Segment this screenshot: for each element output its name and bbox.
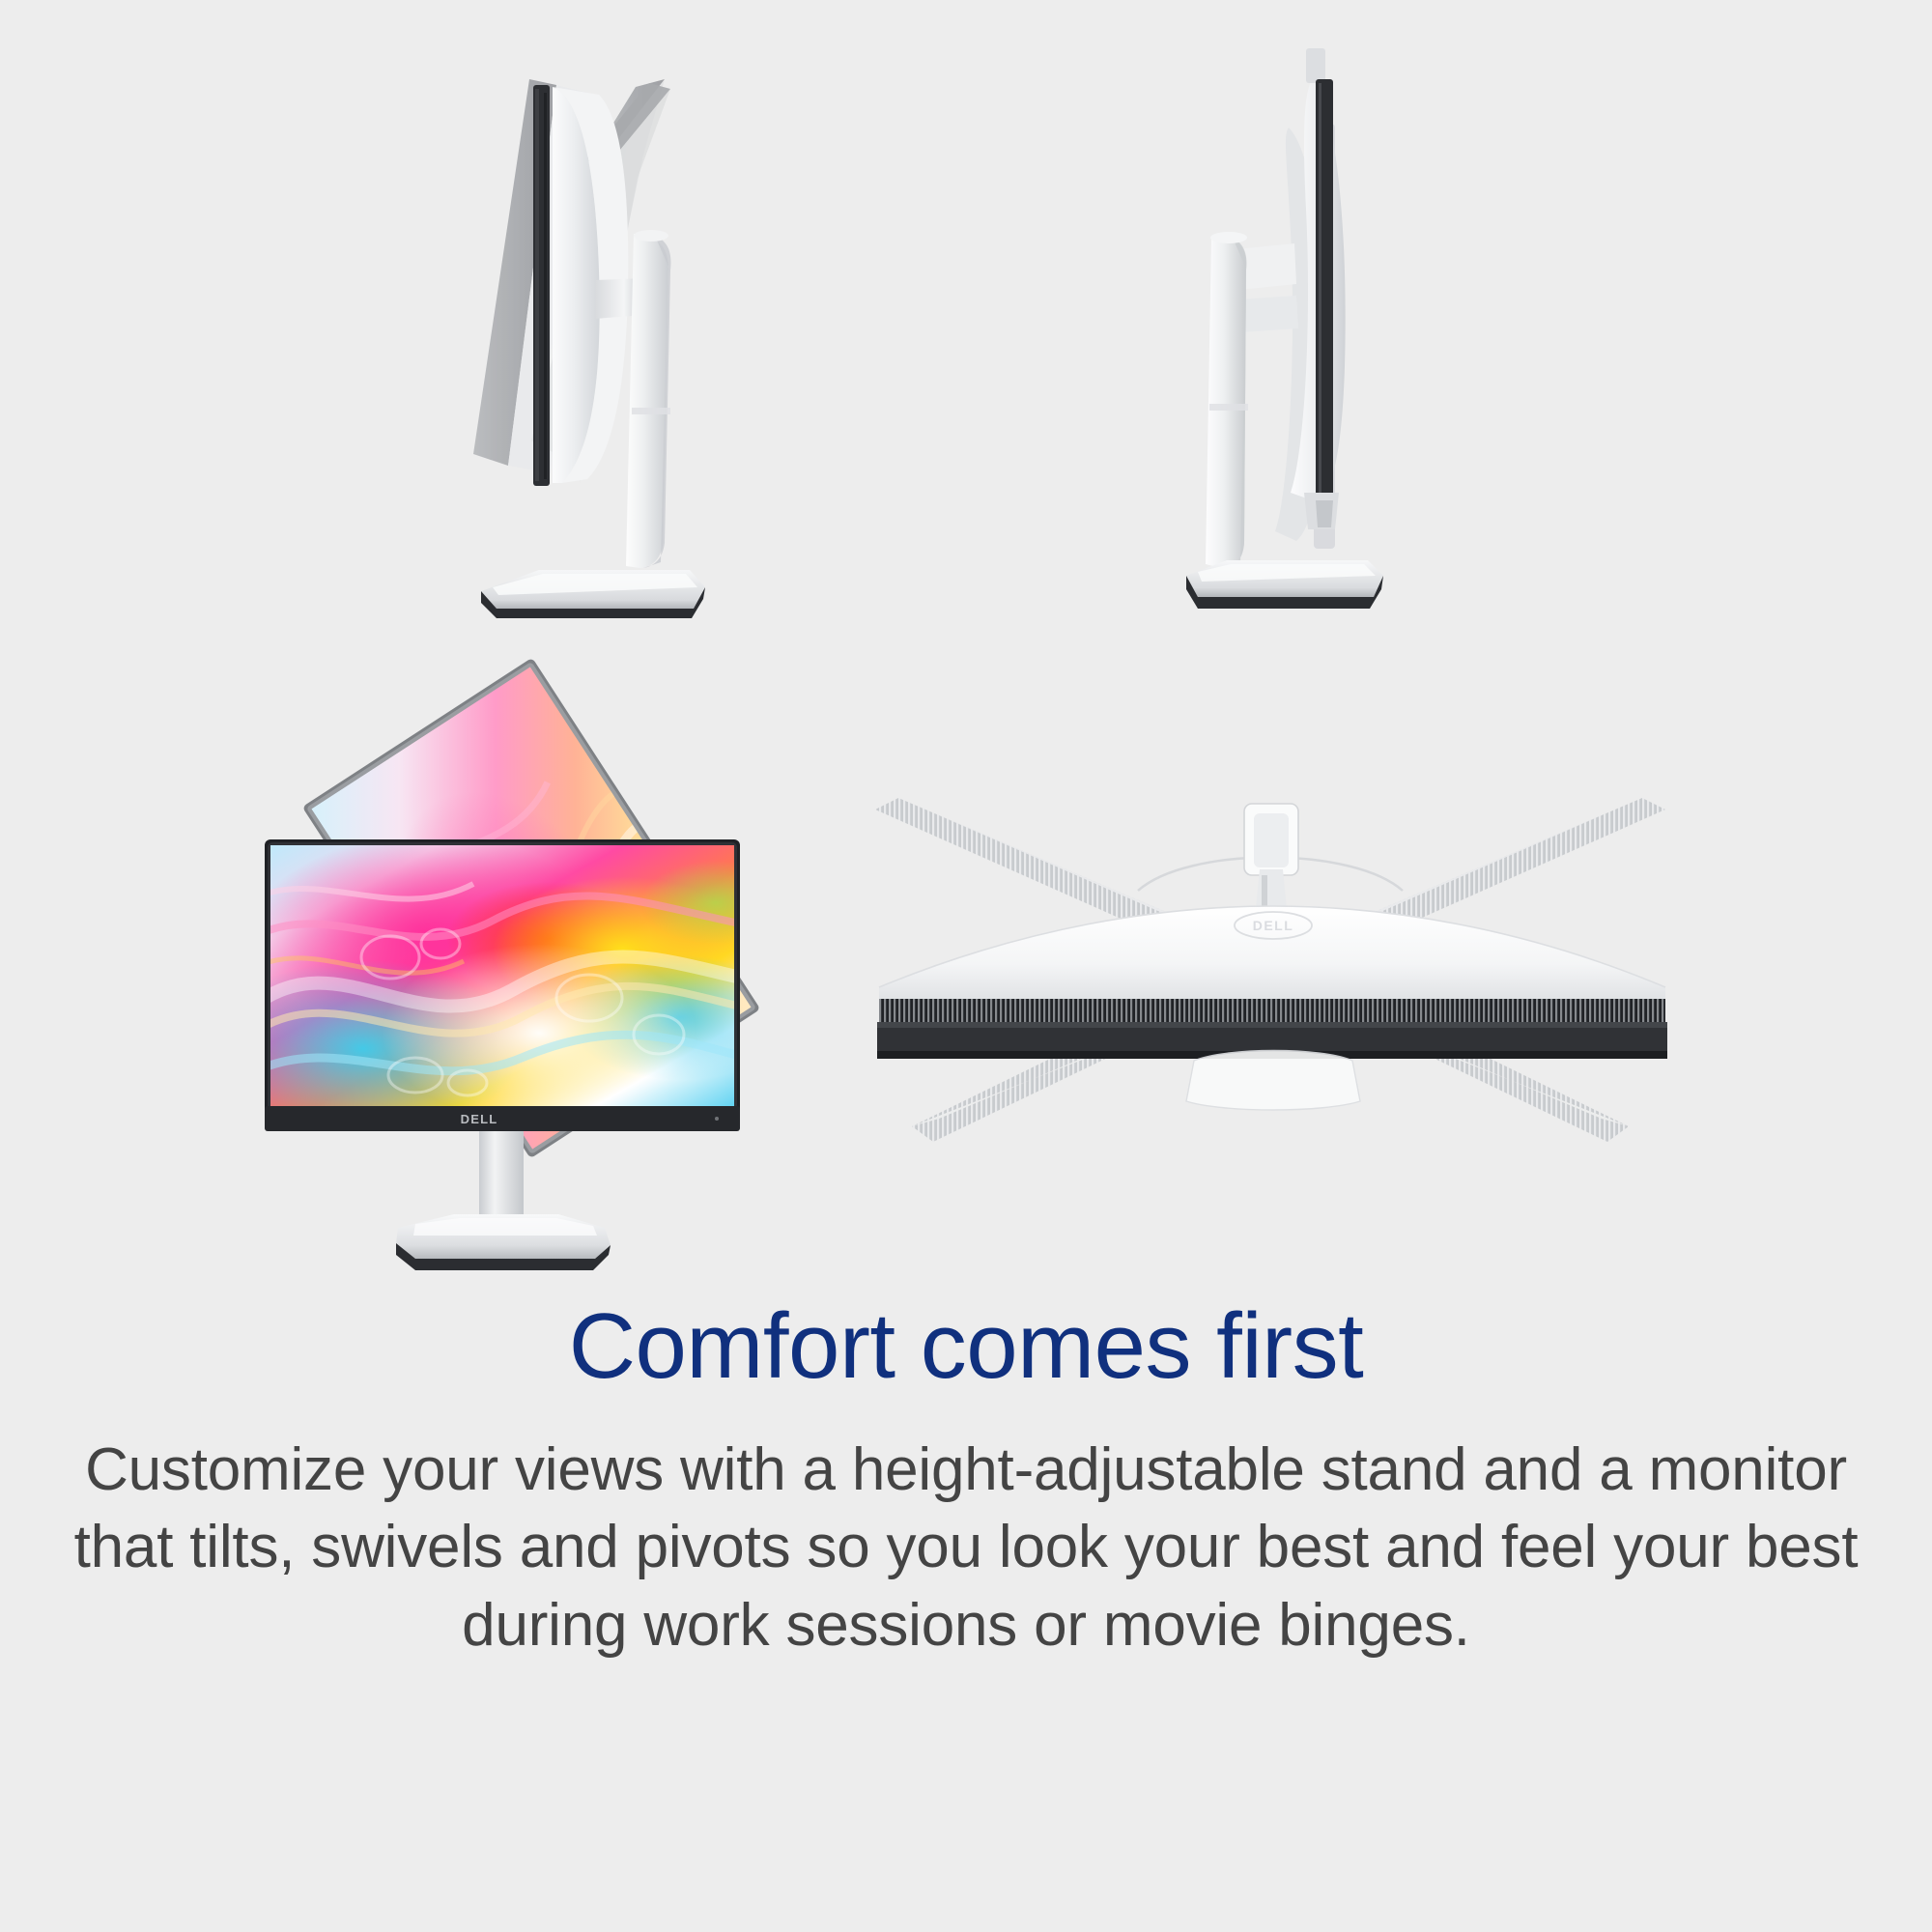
panel-height-adjust-demonstration (1169, 39, 1517, 667)
panel-swivel-demonstration: DELL (869, 782, 1671, 1169)
pivot-stand (396, 1127, 611, 1270)
swivel-main-monitor: DELL (877, 906, 1667, 1059)
pivot-main-monitor: DELL (251, 839, 753, 1270)
dell-logo-front: DELL (461, 1112, 498, 1126)
page-title: Comfort comes first (0, 1294, 1932, 1399)
page-description: Customize your views with a height-adjus… (29, 1432, 1903, 1665)
hero-image: DELL (0, 0, 1932, 1285)
swivel-base-top (1186, 1051, 1360, 1111)
product-feature-page: DELL (0, 0, 1932, 1932)
tilt-stand-base (481, 570, 705, 618)
panel-pivot-demonstration: DELL (241, 667, 840, 1265)
panel-tilt-demonstration (415, 29, 821, 667)
caption-block: Comfort comes first Customize your views… (0, 1294, 1932, 1664)
height-stand-base (1186, 560, 1383, 609)
svg-text:DELL: DELL (461, 1112, 498, 1126)
svg-text:DELL: DELL (1253, 918, 1294, 933)
